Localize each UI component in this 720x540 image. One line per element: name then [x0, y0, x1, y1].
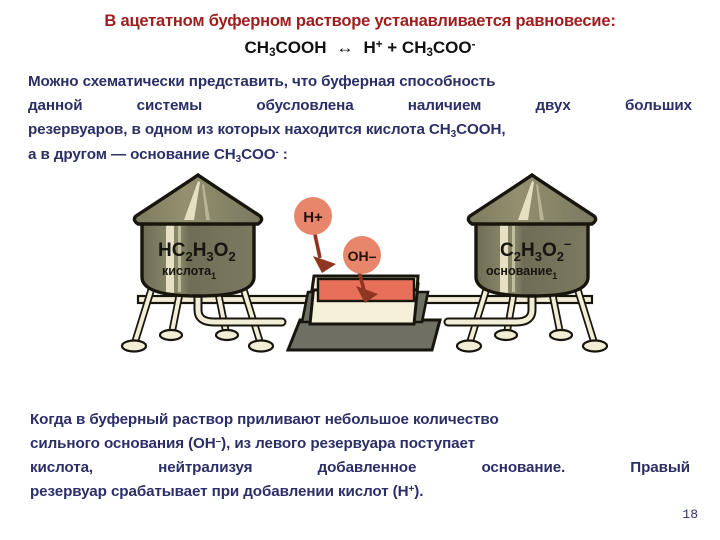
- eq-left-ch: CH: [245, 38, 270, 57]
- buffer-system-diagram: HC2H3O2 кислота1: [110, 172, 620, 387]
- eq-left-rest: COOH: [275, 38, 326, 57]
- para-bottom-line-3: кислота, нейтрализуя добавленное основан…: [30, 456, 690, 480]
- paragraph-top: Можно схематически представить, что буфе…: [28, 70, 692, 167]
- ion-hydrogen-arrow-head: [313, 256, 336, 273]
- para-top-line-4: а в другом — основание CH3COO- :: [28, 143, 692, 168]
- equation-text: CH3COOH↔H+ + CH3COO-: [0, 38, 720, 59]
- left-tank-formula: HC2H3O2: [158, 240, 236, 264]
- para-bottom-line-2: сильного основания (OH–), из левого резе…: [30, 432, 690, 456]
- para-bottom-line-4a: резервуар срабатывает при добавлении кис…: [30, 483, 409, 500]
- ion-hydrogen-group: H+: [294, 197, 336, 273]
- paragraph-bottom: Когда в буферный раствор приливают небол…: [30, 408, 690, 504]
- chemical-equation: CH3COOH↔H+ + CH3COO-: [0, 38, 720, 59]
- eq-plus: +: [387, 38, 397, 57]
- eq-right-rest: COO: [433, 38, 472, 57]
- para-top-line-4a: а в другом — основание CH: [28, 146, 236, 163]
- eq-right-sup: -: [472, 39, 476, 51]
- eq-arrow: ↔: [336, 38, 353, 57]
- para-bottom-line-3-text: кислота, нейтрализуя добавленное основан…: [30, 459, 690, 476]
- ion-hydrogen-label: H+: [303, 209, 323, 226]
- para-top-line-4b: COO: [241, 146, 275, 163]
- para-bottom-line-4: резервуар срабатывает при добавлении кис…: [30, 480, 690, 504]
- para-bottom-line-1: Когда в буферный раствор приливают небол…: [30, 408, 690, 432]
- para-top-line-2-text: данной системы обусловлена наличием двух…: [28, 97, 692, 114]
- para-bottom-line-4b: ).: [414, 483, 423, 500]
- para-top-line-4c: :: [279, 146, 288, 163]
- eq-right-h: H: [363, 38, 375, 57]
- slide-title: В ацетатном буферном растворе устанавлив…: [0, 12, 720, 31]
- page-number: 18: [682, 507, 698, 522]
- para-top-line-3b: COOH,: [456, 121, 505, 138]
- para-top-line-3a: резервуаров, в одном из которых находитс…: [28, 121, 451, 138]
- eq-right-h-sup: +: [376, 39, 383, 51]
- eq-right-ch: CH: [402, 38, 427, 57]
- title-line-1: В ацетатном буферном растворе устанавлив…: [0, 12, 720, 31]
- para-top-line-3: резервуаров, в одном из которых находитс…: [28, 118, 692, 143]
- para-bottom-line-2b: ), из левого резервуара поступает: [221, 435, 475, 452]
- left-tank-acid: HC2H3O2 кислота1: [122, 175, 282, 352]
- para-top-line-2: данной системы обусловлена наличием двух…: [28, 94, 692, 118]
- right-tank-base: C2H3O2– основание1: [448, 175, 607, 352]
- ion-hydroxide-label: OH–: [348, 248, 377, 264]
- para-top-line-1: Можно схематически представить, что буфе…: [28, 70, 692, 94]
- slide-canvas: В ацетатном буферном растворе устанавлив…: [0, 0, 720, 540]
- para-bottom-line-2a: сильного основания (OH: [30, 435, 216, 452]
